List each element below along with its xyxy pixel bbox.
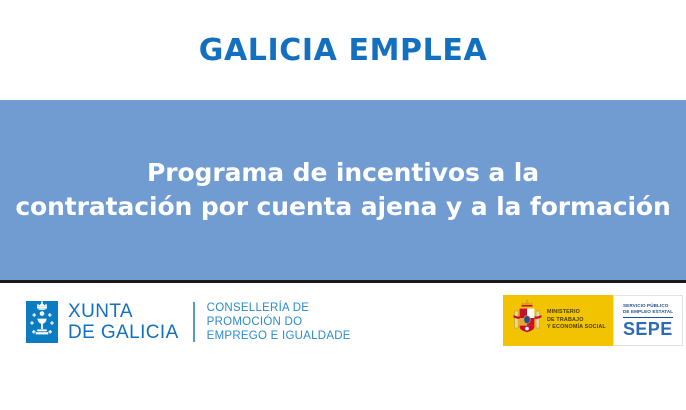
spain-coat-of-arms-icon: [510, 298, 544, 343]
program-banner-line-1: Programa de incentivos a la: [15, 156, 670, 190]
ministerio-de-trabajo-logo: MINISTERIO DE TRABAJO Y ECONOMÍA SOCIAL: [503, 295, 613, 346]
program-banner-text: Programa de incentivos a la contratación…: [3, 156, 682, 224]
sepe-rule: [623, 317, 673, 318]
xunta-wordmark-line-2: DE GALICIA: [68, 322, 179, 343]
conselleria-line-3: EMPREGO E IGUALDADE: [207, 329, 351, 343]
page-title: GALICIA EMPLEA: [199, 33, 488, 68]
program-banner-line-2: contratación por cuenta ajena y a la for…: [15, 190, 670, 224]
xunta-de-galicia-logo: XUNTA DE GALICIA CONSELLERÍA DE PROMOCIÓ…: [26, 301, 351, 343]
xunta-coat-of-arms-icon: [26, 301, 58, 343]
logo-divider: [193, 302, 195, 342]
ministerio-line-1: MINISTERIO: [547, 309, 606, 316]
conselleria-text: CONSELLERÍA DE PROMOCIÓN DO EMPREGO E IG…: [207, 301, 351, 343]
ministerio-line-3: Y ECONOMÍA SOCIAL: [547, 324, 606, 331]
program-banner: Programa de incentivos a la contratación…: [0, 100, 686, 283]
header: GALICIA EMPLEA: [0, 0, 686, 100]
xunta-wordmark-line-1: XUNTA: [68, 301, 179, 322]
footer-logos: XUNTA DE GALICIA CONSELLERÍA DE PROMOCIÓ…: [0, 283, 686, 407]
ministerio-text: MINISTERIO DE TRABAJO Y ECONOMÍA SOCIAL: [547, 309, 606, 331]
xunta-wordmark: XUNTA DE GALICIA: [68, 301, 179, 343]
sepe-logo: SERVICIO PÚBLICO DE EMPLEO ESTATAL SEPE: [613, 295, 683, 346]
sepe-subtitle-line-2: DE EMPLEO ESTATAL: [623, 309, 682, 315]
sepe-wordmark: SEPE: [623, 320, 682, 339]
sepe-subtitle: SERVICIO PÚBLICO DE EMPLEO ESTATAL: [623, 303, 682, 315]
conselleria-line-1: CONSELLERÍA DE: [207, 301, 351, 315]
conselleria-line-2: PROMOCIÓN DO: [207, 315, 351, 329]
